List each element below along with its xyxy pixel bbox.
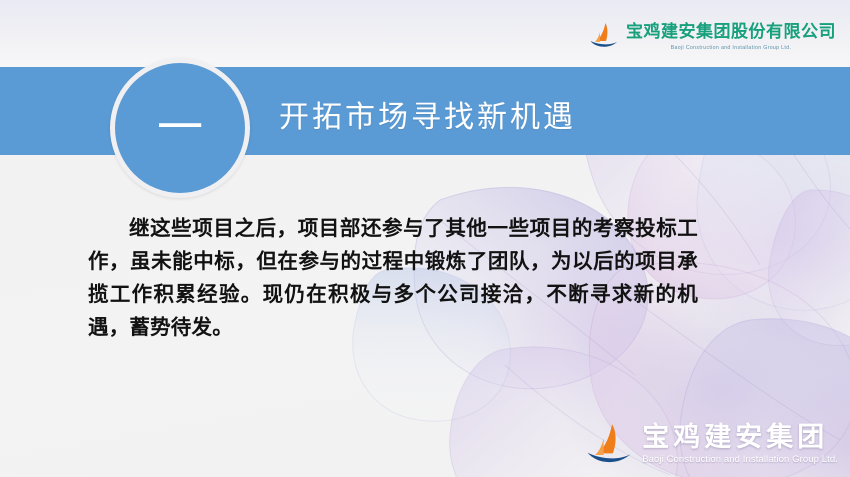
header-company-name-cn: 宝鸡建安集团股份有限公司 [626, 22, 836, 42]
footer-company-name-cn: 宝鸡建安集团 [642, 421, 838, 453]
sail-flame-logo-icon [589, 22, 619, 50]
footer-company-name-en: Baoji Construction and Installation Grou… [642, 454, 838, 466]
section-number-badge: 一 [110, 58, 250, 198]
body-paragraph: 继这些项目之后，项目部还参与了其他一些项目的考察投标工作，虽未能中标，但在参与的… [88, 212, 698, 344]
sail-flame-logo-icon [586, 421, 632, 469]
header-company-text: 宝鸡建安集团股份有限公司 Baoji Construction and Inst… [626, 22, 836, 52]
section-number-label: 一 [157, 105, 203, 151]
header-strip: 宝鸡建安集团股份有限公司 Baoji Construction and Inst… [0, 0, 850, 67]
presentation-slide: 宝鸡建安集团股份有限公司 Baoji Construction and Inst… [0, 0, 850, 477]
header-company-logo: 宝鸡建安集团股份有限公司 Baoji Construction and Inst… [589, 22, 836, 52]
header-company-name-en: Baoji Construction and Installation Grou… [626, 44, 836, 52]
section-title: 开拓市场寻找新机遇 [279, 92, 576, 136]
footer-company-logo: 宝鸡建安集团 Baoji Construction and Installati… [586, 421, 838, 469]
footer-company-text: 宝鸡建安集团 Baoji Construction and Installati… [642, 421, 838, 466]
